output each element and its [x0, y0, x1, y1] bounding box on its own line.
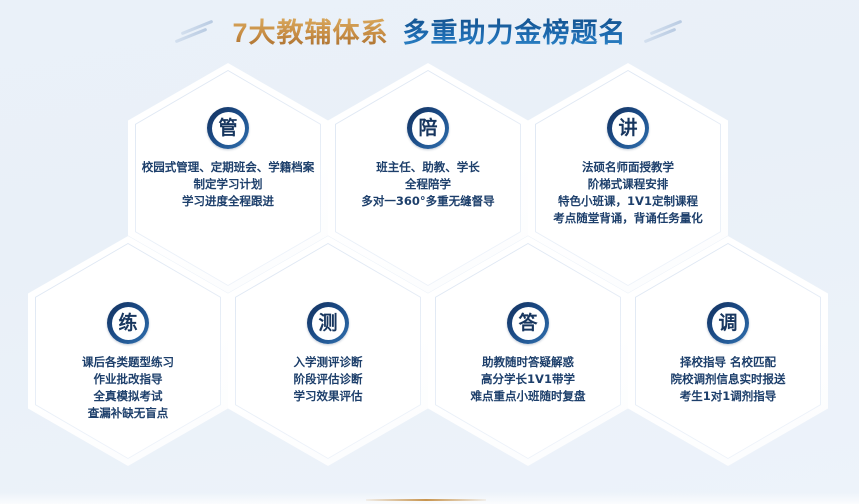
hex-text-line: 阶段评估诊断 — [294, 371, 363, 388]
hex-badge-inner: 管 — [212, 112, 245, 145]
hex-text-line: 考生1对1调剂指导 — [671, 388, 786, 405]
hex-badge-char: 答 — [518, 314, 537, 333]
hex-badge-inner: 答 — [512, 307, 545, 340]
hex-badge-inner: 陪 — [412, 112, 445, 145]
hex-text-block: 课后各类题型练习 作业批改指导 全真模拟考试 查漏补缺无盲点 — [82, 354, 174, 422]
hex-text-line: 课后各类题型练习 — [82, 354, 174, 371]
hex-text-block: 择校指导 名校匹配 院校调剂信息实时报送 考生1对1调剂指导 — [671, 354, 786, 405]
hex-text-line: 作业批改指导 — [82, 371, 174, 388]
hex-text-line: 班主任、助教、学长 — [361, 159, 494, 176]
hex-text-line: 全程陪学 — [361, 176, 494, 193]
hex-text-block: 班主任、助教、学长 全程陪学 多对一360°多重无缝督导 — [361, 159, 494, 210]
hex-text-line: 助教随时答疑解惑 — [471, 354, 586, 371]
hex-text-line: 学习进度全程跟进 — [142, 193, 315, 210]
bottom-fade — [0, 492, 859, 504]
hex-text-block: 助教随时答疑解惑 高分学长1V1带学 难点重点小班随时复盘 — [471, 354, 586, 405]
hex-text-line: 入学测评诊断 — [294, 354, 363, 371]
decor-slash-left-icon — [172, 23, 218, 43]
hex-badge-char: 调 — [718, 314, 737, 333]
hex-badge-char: 管 — [218, 119, 237, 138]
hex-text-block: 法硕名师面授教学 阶梯式课程安排 特色小班课，1V1定制课程 考点随堂背诵，背诵… — [553, 159, 703, 227]
hex-badge-inner: 练 — [112, 307, 145, 340]
hex-badge-char: 测 — [318, 314, 337, 333]
hex-badge-inner: 讲 — [612, 112, 645, 145]
hex-badge-lian: 练 — [107, 302, 149, 344]
hex-text-line: 全真模拟考试 — [82, 388, 174, 405]
hex-text-line: 难点重点小班随时复盘 — [471, 388, 586, 405]
page-title-blue: 多重助力金榜题名 — [403, 18, 627, 48]
hex-badge-tiao: 调 — [707, 302, 749, 344]
hex-text-line: 择校指导 名校匹配 — [671, 354, 786, 371]
hex-text-line: 法硕名师面授教学 — [553, 159, 703, 176]
hex-text-block: 校园式管理、定期班会、学籍档案 制定学习计划 学习进度全程跟进 — [142, 159, 315, 210]
hex-text-line: 特色小班课，1V1定制课程 — [553, 193, 703, 210]
hex-badge-inner: 测 — [312, 307, 345, 340]
hex-text-line: 院校调剂信息实时报送 — [671, 371, 786, 388]
page-title-bar: 7大教辅体系多重助力金榜题名 — [0, 10, 859, 56]
bottom-accent-line — [366, 499, 486, 501]
hex-badge-char: 练 — [118, 314, 137, 333]
hex-text-block: 入学测评诊断 阶段评估诊断 学习效果评估 — [294, 354, 363, 405]
hex-text-line: 考点随堂背诵，背诵任务量化 — [553, 210, 703, 227]
hex-badge-da: 答 — [507, 302, 549, 344]
hex-badge-char: 陪 — [418, 119, 437, 138]
hex-badge-pei: 陪 — [407, 107, 449, 149]
hexagon-grid: 管 校园式管理、定期班会、学籍档案 制定学习计划 学习进度全程跟进 陪 班主任、… — [0, 0, 859, 504]
hex-text-line: 学习效果评估 — [294, 388, 363, 405]
hex-badge-char: 讲 — [618, 119, 637, 138]
hex-badge-jiang: 讲 — [607, 107, 649, 149]
hex-text-line: 阶梯式课程安排 — [553, 176, 703, 193]
page-title: 7大教辅体系多重助力金榜题名 — [232, 16, 626, 50]
hex-text-line: 校园式管理、定期班会、学籍档案 — [142, 159, 315, 176]
page-title-gold: 7大教辅体系 — [232, 18, 388, 48]
hex-text-line: 多对一360°多重无缝督导 — [361, 193, 494, 210]
hex-badge-guan: 管 — [207, 107, 249, 149]
hex-badge-inner: 调 — [712, 307, 745, 340]
hex-text-line: 查漏补缺无盲点 — [82, 405, 174, 422]
hex-text-line: 高分学长1V1带学 — [471, 371, 586, 388]
hex-badge-ce: 测 — [307, 302, 349, 344]
hex-text-line: 制定学习计划 — [142, 176, 315, 193]
decor-slash-right-icon — [641, 23, 687, 43]
